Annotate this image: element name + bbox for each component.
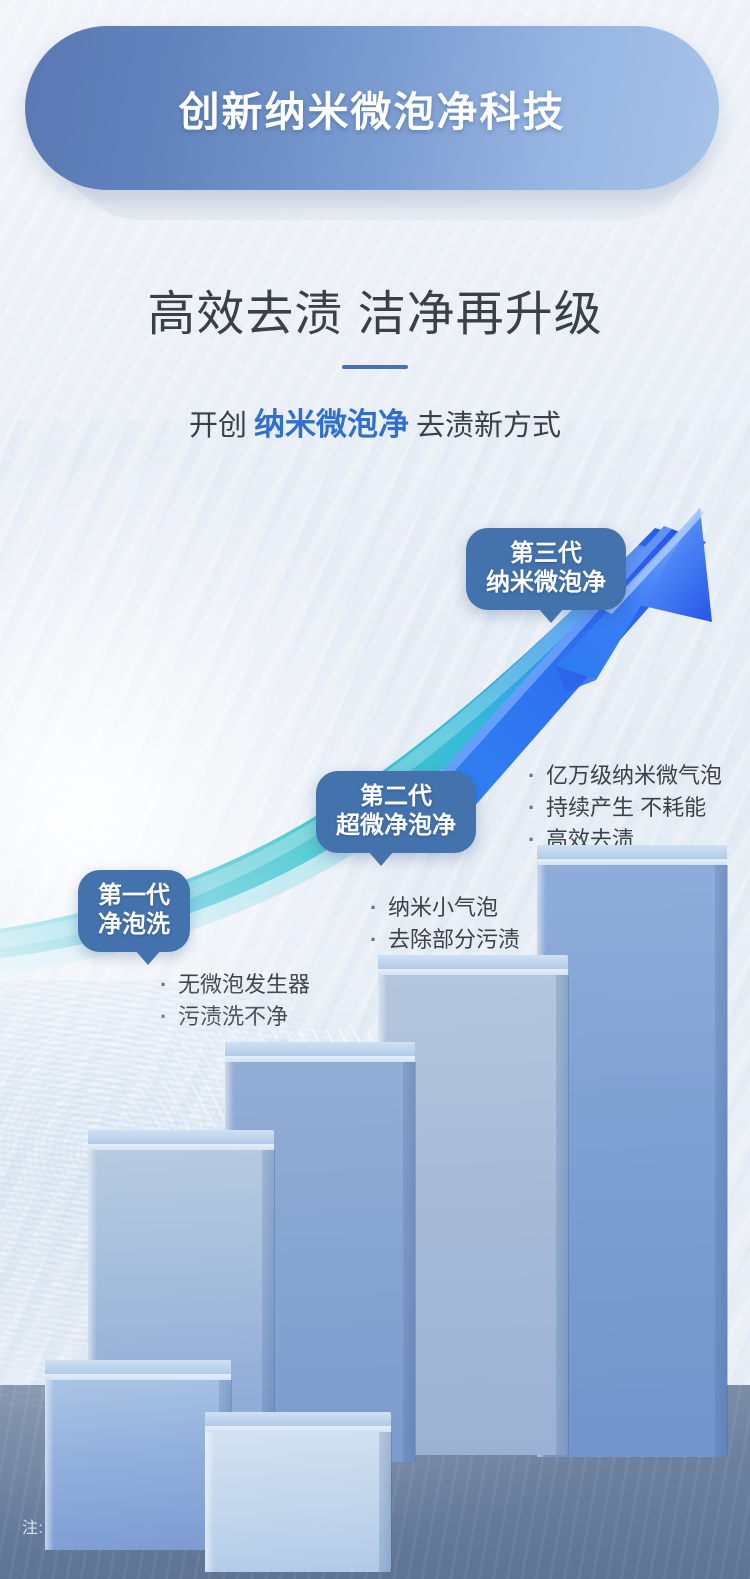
callout-generation-1[interactable]: 第一代 净泡洗: [78, 870, 190, 952]
page-subtitle: 开创纳米微泡净去渍新方式: [0, 399, 750, 444]
bar-right-face: [262, 1150, 275, 1412]
list-item: 无微泡发生器: [160, 969, 310, 1001]
bar-foreground-right: [205, 1412, 391, 1572]
list-item: 去除部分污渍: [370, 924, 520, 956]
list-item: 污渍洗不净: [160, 1001, 310, 1033]
bar-left-bevel: [45, 1380, 54, 1550]
list-item: 持续产生 不耗能: [528, 792, 722, 824]
callout-generation-2[interactable]: 第二代 超微净泡净: [316, 771, 476, 853]
page-title: 高效去渍 洁净再升级: [0, 274, 750, 344]
promo-page: 创新纳米微泡净科技 高效去渍 洁净再升级 开创纳米微泡净去渍新方式: [0, 0, 750, 1579]
bar-right-face: [715, 865, 728, 1457]
title-divider: [342, 365, 408, 369]
callout-generation-3[interactable]: 第三代 纳米微泡净: [466, 528, 626, 610]
feature-list-generation-1: 无微泡发生器 污渍洗不净: [160, 969, 310, 1033]
subtitle-suffix: 去渍新方式: [416, 410, 561, 442]
banner-title: 创新纳米微泡净科技: [179, 78, 566, 138]
feature-list-generation-3: 亿万级纳米微气泡 持续产生 不耗能 高效去渍: [528, 760, 722, 856]
bar-left-bevel: [205, 1432, 214, 1572]
callout-gen3-line1: 第三代: [486, 539, 606, 568]
bar-right-face: [379, 1432, 392, 1572]
header-banner: 创新纳米微泡净科技: [25, 26, 719, 190]
callout-gen1-line1: 第一代: [98, 881, 170, 910]
callout-gen1-line2: 净泡洗: [98, 910, 170, 939]
callout-gen2-line2: 超微净泡净: [336, 811, 456, 840]
callout-gen2-line1: 第二代: [336, 782, 456, 811]
bar-right-face: [556, 975, 569, 1455]
subtitle-prefix: 开创: [189, 410, 247, 442]
list-item: 纳米小气泡: [370, 892, 520, 924]
list-item: 亿万级纳米微气泡: [528, 760, 722, 792]
subtitle-highlight: 纳米微泡净: [254, 407, 409, 442]
feature-list-generation-2: 纳米小气泡 去除部分污渍: [370, 892, 520, 956]
bar-right-face: [403, 1062, 416, 1462]
bar-foreground-left: [45, 1360, 231, 1550]
bar-body: [205, 1432, 391, 1572]
bar-body: [45, 1380, 231, 1550]
callout-gen3-line2: 纳米微泡净: [486, 568, 606, 597]
